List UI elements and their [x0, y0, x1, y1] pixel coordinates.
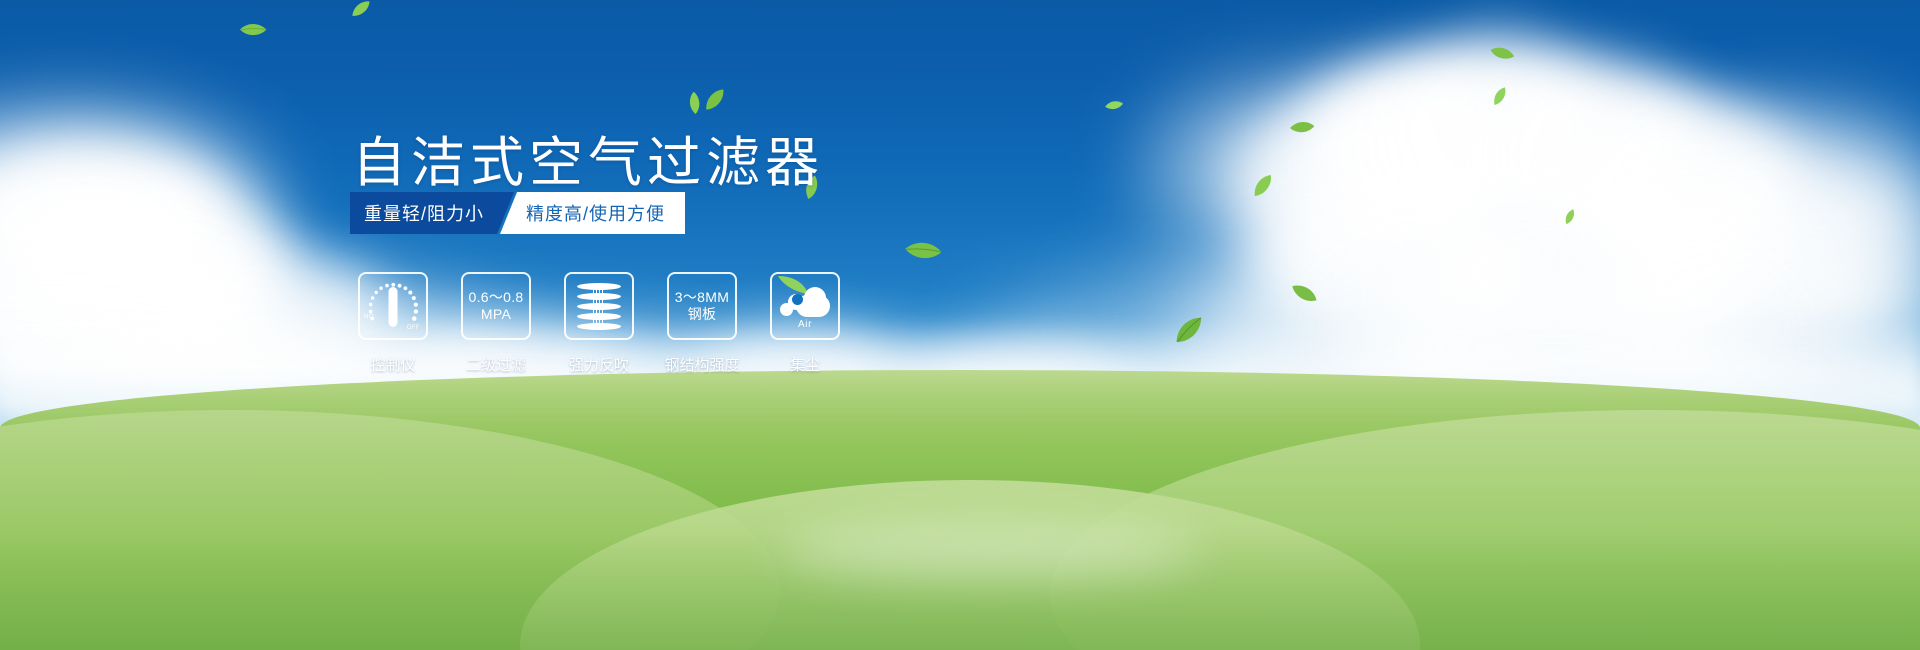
gauge-needle	[389, 287, 398, 327]
feature-item-steel-strength: 3～8MM 钢板 钢结构强度	[667, 272, 737, 375]
feature-icon-box: 0.6～0.8 MPA	[461, 272, 531, 340]
hero-banner: 自洁式空气过滤器 重量轻/阻力小 精度高/使用方便	[0, 0, 1920, 650]
gauge-min-label: NO	[364, 314, 374, 320]
badge-group: 重量轻/阻力小 精度高/使用方便	[350, 192, 685, 234]
coil-ring	[577, 293, 621, 300]
coil-ring	[577, 303, 621, 310]
feature-icon-box	[564, 272, 634, 340]
feature-value-line2: MPA	[481, 306, 511, 323]
badge-lightweight-lowresistance: 重量轻/阻力小	[350, 192, 514, 234]
feature-item-dust-collection: Air 集尘	[770, 272, 840, 375]
feature-value-line2: 钢板	[688, 306, 717, 323]
gauge-dial-icon: NO OFF	[364, 278, 422, 334]
feature-value-line1: 0.6～0.8	[468, 289, 523, 306]
feature-icon-box: 3～8MM 钢板	[667, 272, 737, 340]
gauge-max-label: OFF	[407, 325, 420, 331]
feature-list: NO OFF 控制仪 0.6～0.8 MPA 二级过滤	[358, 272, 840, 375]
filter-coil-icon	[577, 282, 621, 330]
badge-precision-easyuse: 精度高/使用方便	[500, 192, 685, 234]
cloud-body	[780, 303, 793, 316]
coil-ring	[577, 323, 621, 330]
page-title: 自洁式空气过滤器	[352, 118, 824, 197]
feature-icon-box: Air	[770, 272, 840, 340]
cloud-cutout	[792, 294, 803, 305]
feature-label: 控制仪	[370, 354, 415, 375]
feature-item-controller: NO OFF 控制仪	[358, 272, 428, 375]
feature-item-secondary-filter: 0.6～0.8 MPA 二级过滤	[461, 272, 531, 375]
cloud-body	[804, 287, 826, 309]
feature-label: 集尘	[790, 354, 820, 375]
feature-icon-box: NO OFF	[358, 272, 428, 340]
banner-content: 自洁式空气过滤器 重量轻/阻力小 精度高/使用方便	[0, 0, 1920, 650]
feature-value-line1: 3～8MM	[675, 289, 729, 306]
feature-label: 二级过滤	[466, 354, 526, 375]
feature-item-strong-blowback: 强力反吹	[564, 272, 634, 375]
coil-ring	[577, 283, 621, 290]
feature-label: 强力反吹	[569, 354, 629, 375]
feature-value-line1: Air	[798, 319, 812, 330]
feature-label: 钢结构强度	[665, 354, 740, 375]
coil-ring	[577, 313, 621, 320]
cloud-air-icon	[780, 283, 830, 317]
